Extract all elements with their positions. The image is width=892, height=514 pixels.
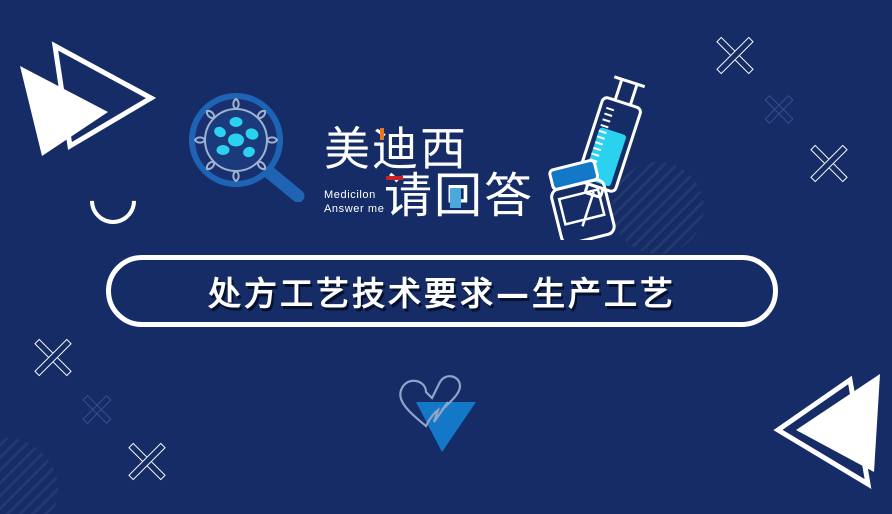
syringe-needle [583,192,594,226]
heart-chevron-fill [416,402,476,452]
logo-english-line2: Answer me [324,202,384,216]
logo-accent-orange [380,128,384,140]
logo-english-line1: Medicilon [324,188,384,202]
logo-english: Medicilon Answer me [324,188,384,216]
triangle-solid-right [20,66,108,156]
x-mark-icon [806,140,852,186]
vial-body [550,178,616,240]
x-mark-icon [762,92,796,126]
x-mark-icon [712,32,758,78]
logo-accent-cyan [450,188,461,208]
hatch-circle-bottom-left [0,438,58,514]
logo-chinese-top: 美迪西 [324,126,468,172]
triangle-pair-left-icon [748,368,892,500]
triangle-pair-right-icon [8,38,156,168]
arc-icon [80,168,145,233]
vial-label [559,189,604,224]
x-mark-icon [30,334,76,380]
x-mark-icon [124,438,170,484]
presentation-slide: 美迪西 请回答 Medicilon Answer me [0,0,892,514]
magnifier-virus-icon [186,92,310,202]
medicilon-logo: 美迪西 请回答 Medicilon Answer me [322,126,512,234]
syringe-vial-icon [540,68,672,240]
page-title: 处方工艺技术要求—生产工艺 [208,267,676,315]
x-mark-icon [80,392,114,426]
logo-accent-red [386,176,403,180]
heart-pulse-icon [376,366,486,454]
title-pill: 处方工艺技术要求—生产工艺 [106,255,778,327]
